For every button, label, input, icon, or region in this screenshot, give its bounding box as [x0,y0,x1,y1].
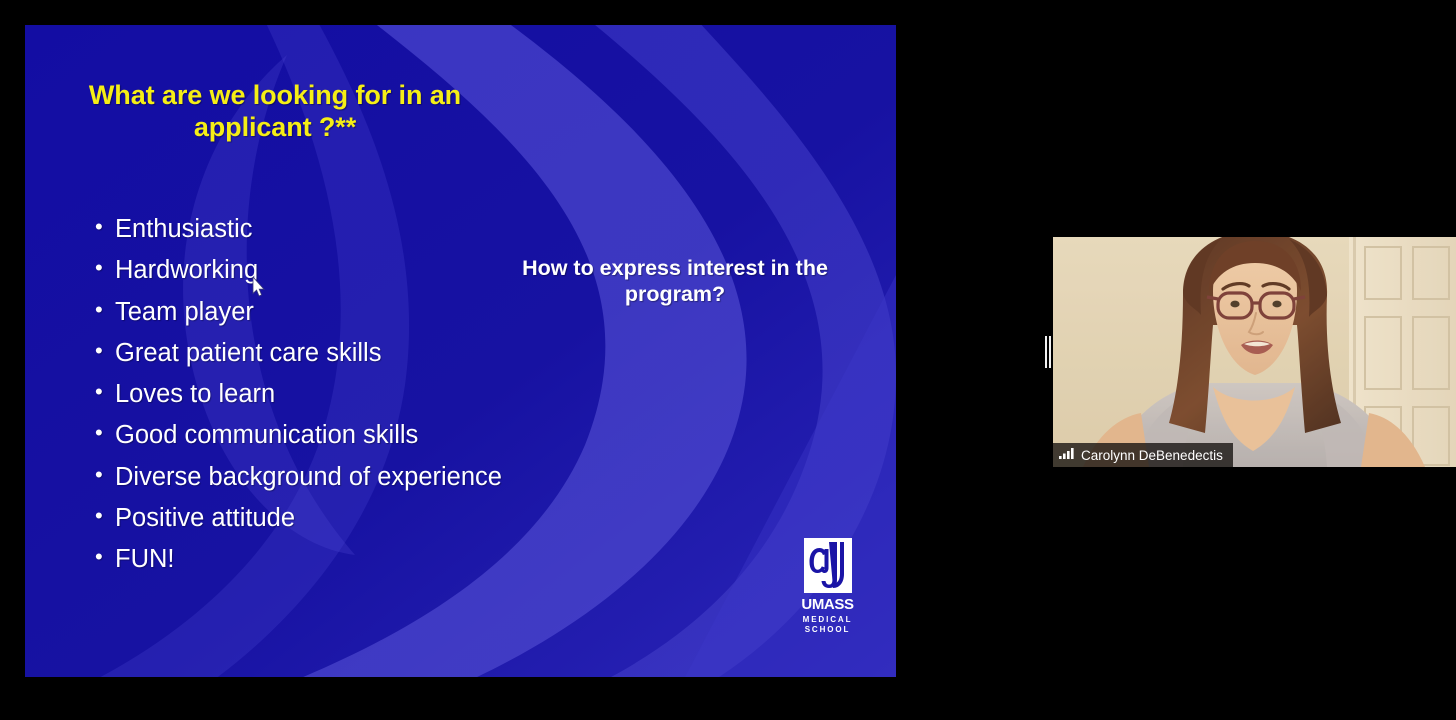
umass-monogram-icon [804,538,852,593]
drag-handle-bar [1045,336,1047,368]
participant-name-label: Carolynn DeBenedectis [1081,448,1223,463]
umass-logo: UMASS MEDICAL SCHOOL [800,538,855,635]
list-item: Diverse background of experience [93,457,513,498]
list-item: FUN! [93,539,513,580]
shared-slide[interactable]: What are we looking for in an applicant … [25,25,896,677]
video-stream [1053,237,1456,467]
slide-bullet-list: Enthusiastic Hardworking Team player Gre… [93,209,513,581]
list-item: Loves to learn [93,374,513,415]
participant-name-strip: Carolynn DeBenedectis [1053,443,1233,467]
umass-line-medical: MEDICAL [800,615,855,625]
slide-title: What are we looking for in an applicant … [55,80,495,143]
signal-bars-icon [1059,446,1075,464]
list-item: Enthusiastic [93,209,513,250]
screen-share-stage: What are we looking for in an applicant … [0,0,1456,720]
list-item: Good communication skills [93,415,513,456]
slide-secondary-heading: How to express interest in the program? [480,256,870,308]
participant-video-tile[interactable]: Carolynn DeBenedectis [1053,237,1456,467]
drag-handle-icon[interactable] [1044,336,1051,368]
list-item: Positive attitude [93,498,513,539]
list-item: Team player [93,292,513,333]
list-item: Great patient care skills [93,333,513,374]
list-item: Hardworking [93,250,513,291]
drag-handle-bar [1049,336,1051,368]
umass-wordmark: UMASS [800,596,855,615]
umass-line-school: SCHOOL [800,625,855,635]
